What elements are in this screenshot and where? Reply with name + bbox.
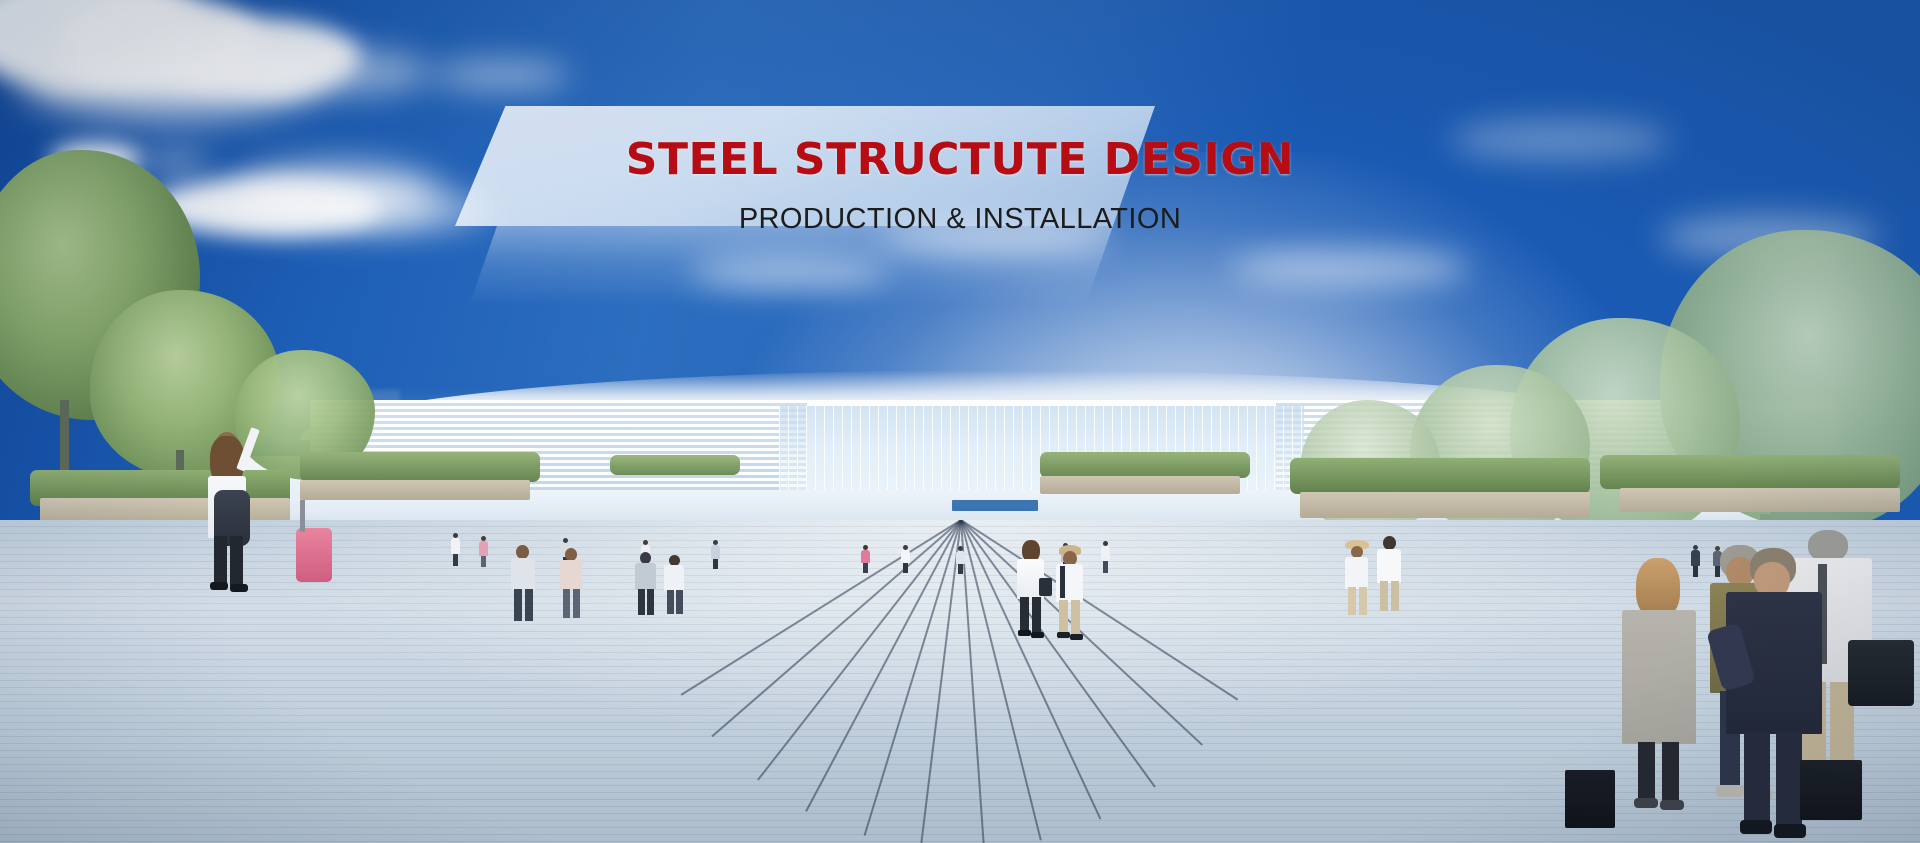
figure-pedestrian — [1340, 540, 1374, 620]
figure-woman-grey-coat — [1612, 558, 1704, 810]
figure-pedestrian — [555, 548, 589, 622]
shoe — [1031, 632, 1044, 638]
pink-suitcase — [296, 528, 332, 582]
hedge — [610, 455, 740, 475]
shoe — [230, 584, 248, 592]
messenger-bag — [1848, 640, 1914, 706]
shoe — [1018, 630, 1031, 636]
backpack-strap — [1060, 566, 1065, 598]
cloud — [250, 48, 430, 96]
figure-pedestrian — [660, 555, 690, 617]
shoe — [1740, 820, 1772, 834]
legs — [214, 536, 227, 586]
hedge — [1600, 455, 1900, 489]
shoe — [210, 582, 228, 590]
shoe — [1634, 798, 1658, 808]
legs — [230, 536, 243, 586]
briefcase-left — [1565, 770, 1615, 828]
hedge — [1040, 452, 1250, 478]
headline-panel-fade — [455, 226, 1155, 306]
shoe — [1057, 632, 1070, 638]
figure-man-center — [1050, 545, 1090, 639]
shoe — [1070, 634, 1083, 640]
figure-pedestrian — [630, 552, 662, 618]
entrance-sign — [952, 500, 1038, 511]
figure-pedestrian — [505, 545, 543, 625]
figure-pedestrian — [1372, 536, 1406, 620]
figure-woman-center — [1010, 540, 1052, 638]
hedge — [1290, 458, 1590, 494]
planter-box — [1300, 492, 1590, 518]
hair — [1636, 558, 1680, 618]
planter-box — [1040, 476, 1240, 494]
banner-subheadline: PRODUCTION & INSTALLATION — [0, 203, 1920, 236]
cloud — [1230, 250, 1470, 286]
figure-woman-waving — [198, 432, 268, 592]
planter-box — [1620, 488, 1900, 512]
suitcase-handle — [300, 500, 305, 532]
shoe — [1660, 800, 1684, 810]
banner-headline: STEEL STRUCTUTE DESIGN — [0, 134, 1920, 185]
hedge — [300, 452, 540, 482]
planter-box — [300, 480, 530, 500]
cloud — [430, 60, 570, 90]
shoe — [1774, 824, 1806, 838]
hero-banner: STEEL STRUCTUTE DESIGN PRODUCTION & INST… — [0, 0, 1920, 843]
grey-coat — [1622, 610, 1696, 744]
briefcase-right — [1800, 760, 1862, 820]
